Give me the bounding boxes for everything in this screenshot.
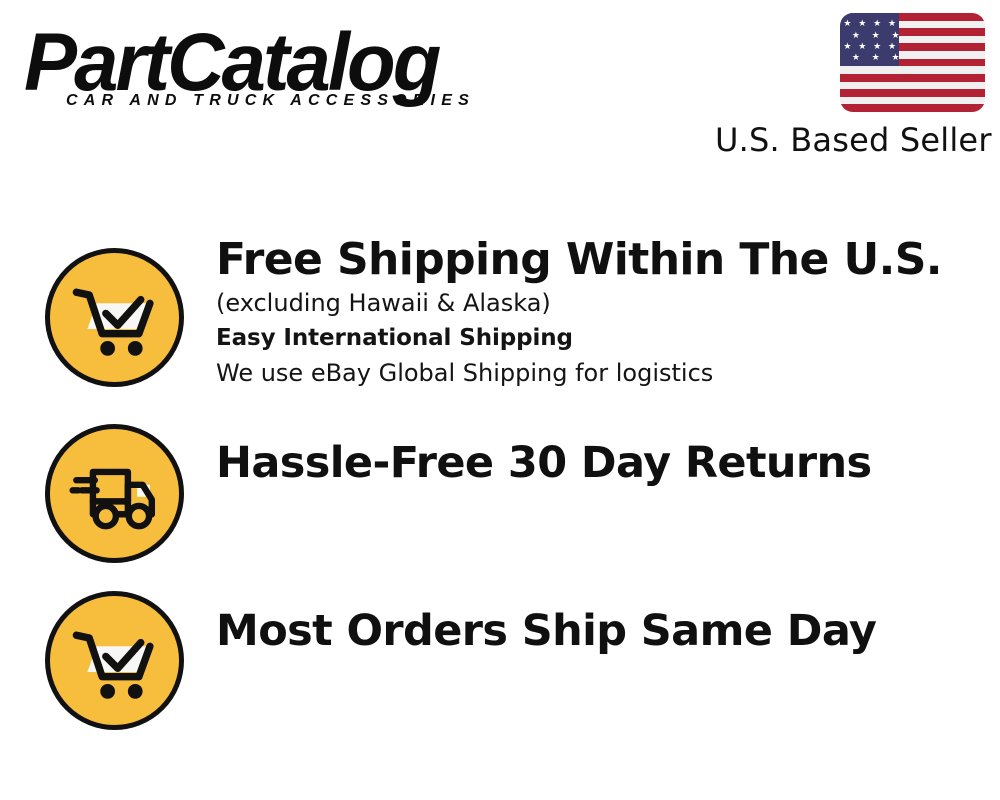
- feature-list: Free Shipping Within The U.S. (excluding…: [0, 230, 1000, 743]
- feature-row-returns: Hassle-Free 30 Day Returns: [0, 402, 1000, 573]
- flag-canton: ★★★★ ★★★ ★★★★ ★★★: [840, 13, 899, 66]
- feature-subheading: Easy International Shipping: [216, 320, 1000, 356]
- feature-heading: Free Shipping Within The U.S.: [216, 234, 1000, 286]
- us-flag-icon: ★★★★ ★★★ ★★★★ ★★★: [840, 13, 985, 112]
- feature-heading: Most Orders Ship Same Day: [216, 605, 1000, 657]
- us-based-seller-badge: ★★★★ ★★★ ★★★★ ★★★ U.S. Based Seller: [715, 13, 985, 159]
- brand-tagline: CAR AND TRUCK ACCESSORIES: [66, 92, 475, 110]
- feature-row-same-day: Most Orders Ship Same Day: [0, 573, 1000, 743]
- feature-subtext: We use eBay Global Shipping for logistic…: [216, 356, 1000, 390]
- cart-check-icon: [45, 591, 184, 730]
- feature-heading: Hassle-Free 30 Day Returns: [216, 437, 1000, 489]
- feature-row-free-shipping: Free Shipping Within The U.S. (excluding…: [0, 230, 1000, 402]
- us-based-seller-label: U.S. Based Seller: [715, 121, 985, 159]
- shipping-info-banner: PartCatalog CAR AND TRUCK ACCESSORIES ★★…: [0, 0, 1000, 800]
- feature-text-free-shipping: Free Shipping Within The U.S. (excluding…: [184, 230, 1000, 390]
- feature-text-same-day: Most Orders Ship Same Day: [184, 573, 1000, 657]
- brand-logo: PartCatalog CAR AND TRUCK ACCESSORIES: [24, 20, 494, 120]
- feature-note: (excluding Hawaii & Alaska): [216, 286, 1000, 320]
- delivery-truck-icon: [45, 424, 184, 563]
- cart-check-icon: [45, 248, 184, 387]
- feature-text-returns: Hassle-Free 30 Day Returns: [184, 402, 1000, 489]
